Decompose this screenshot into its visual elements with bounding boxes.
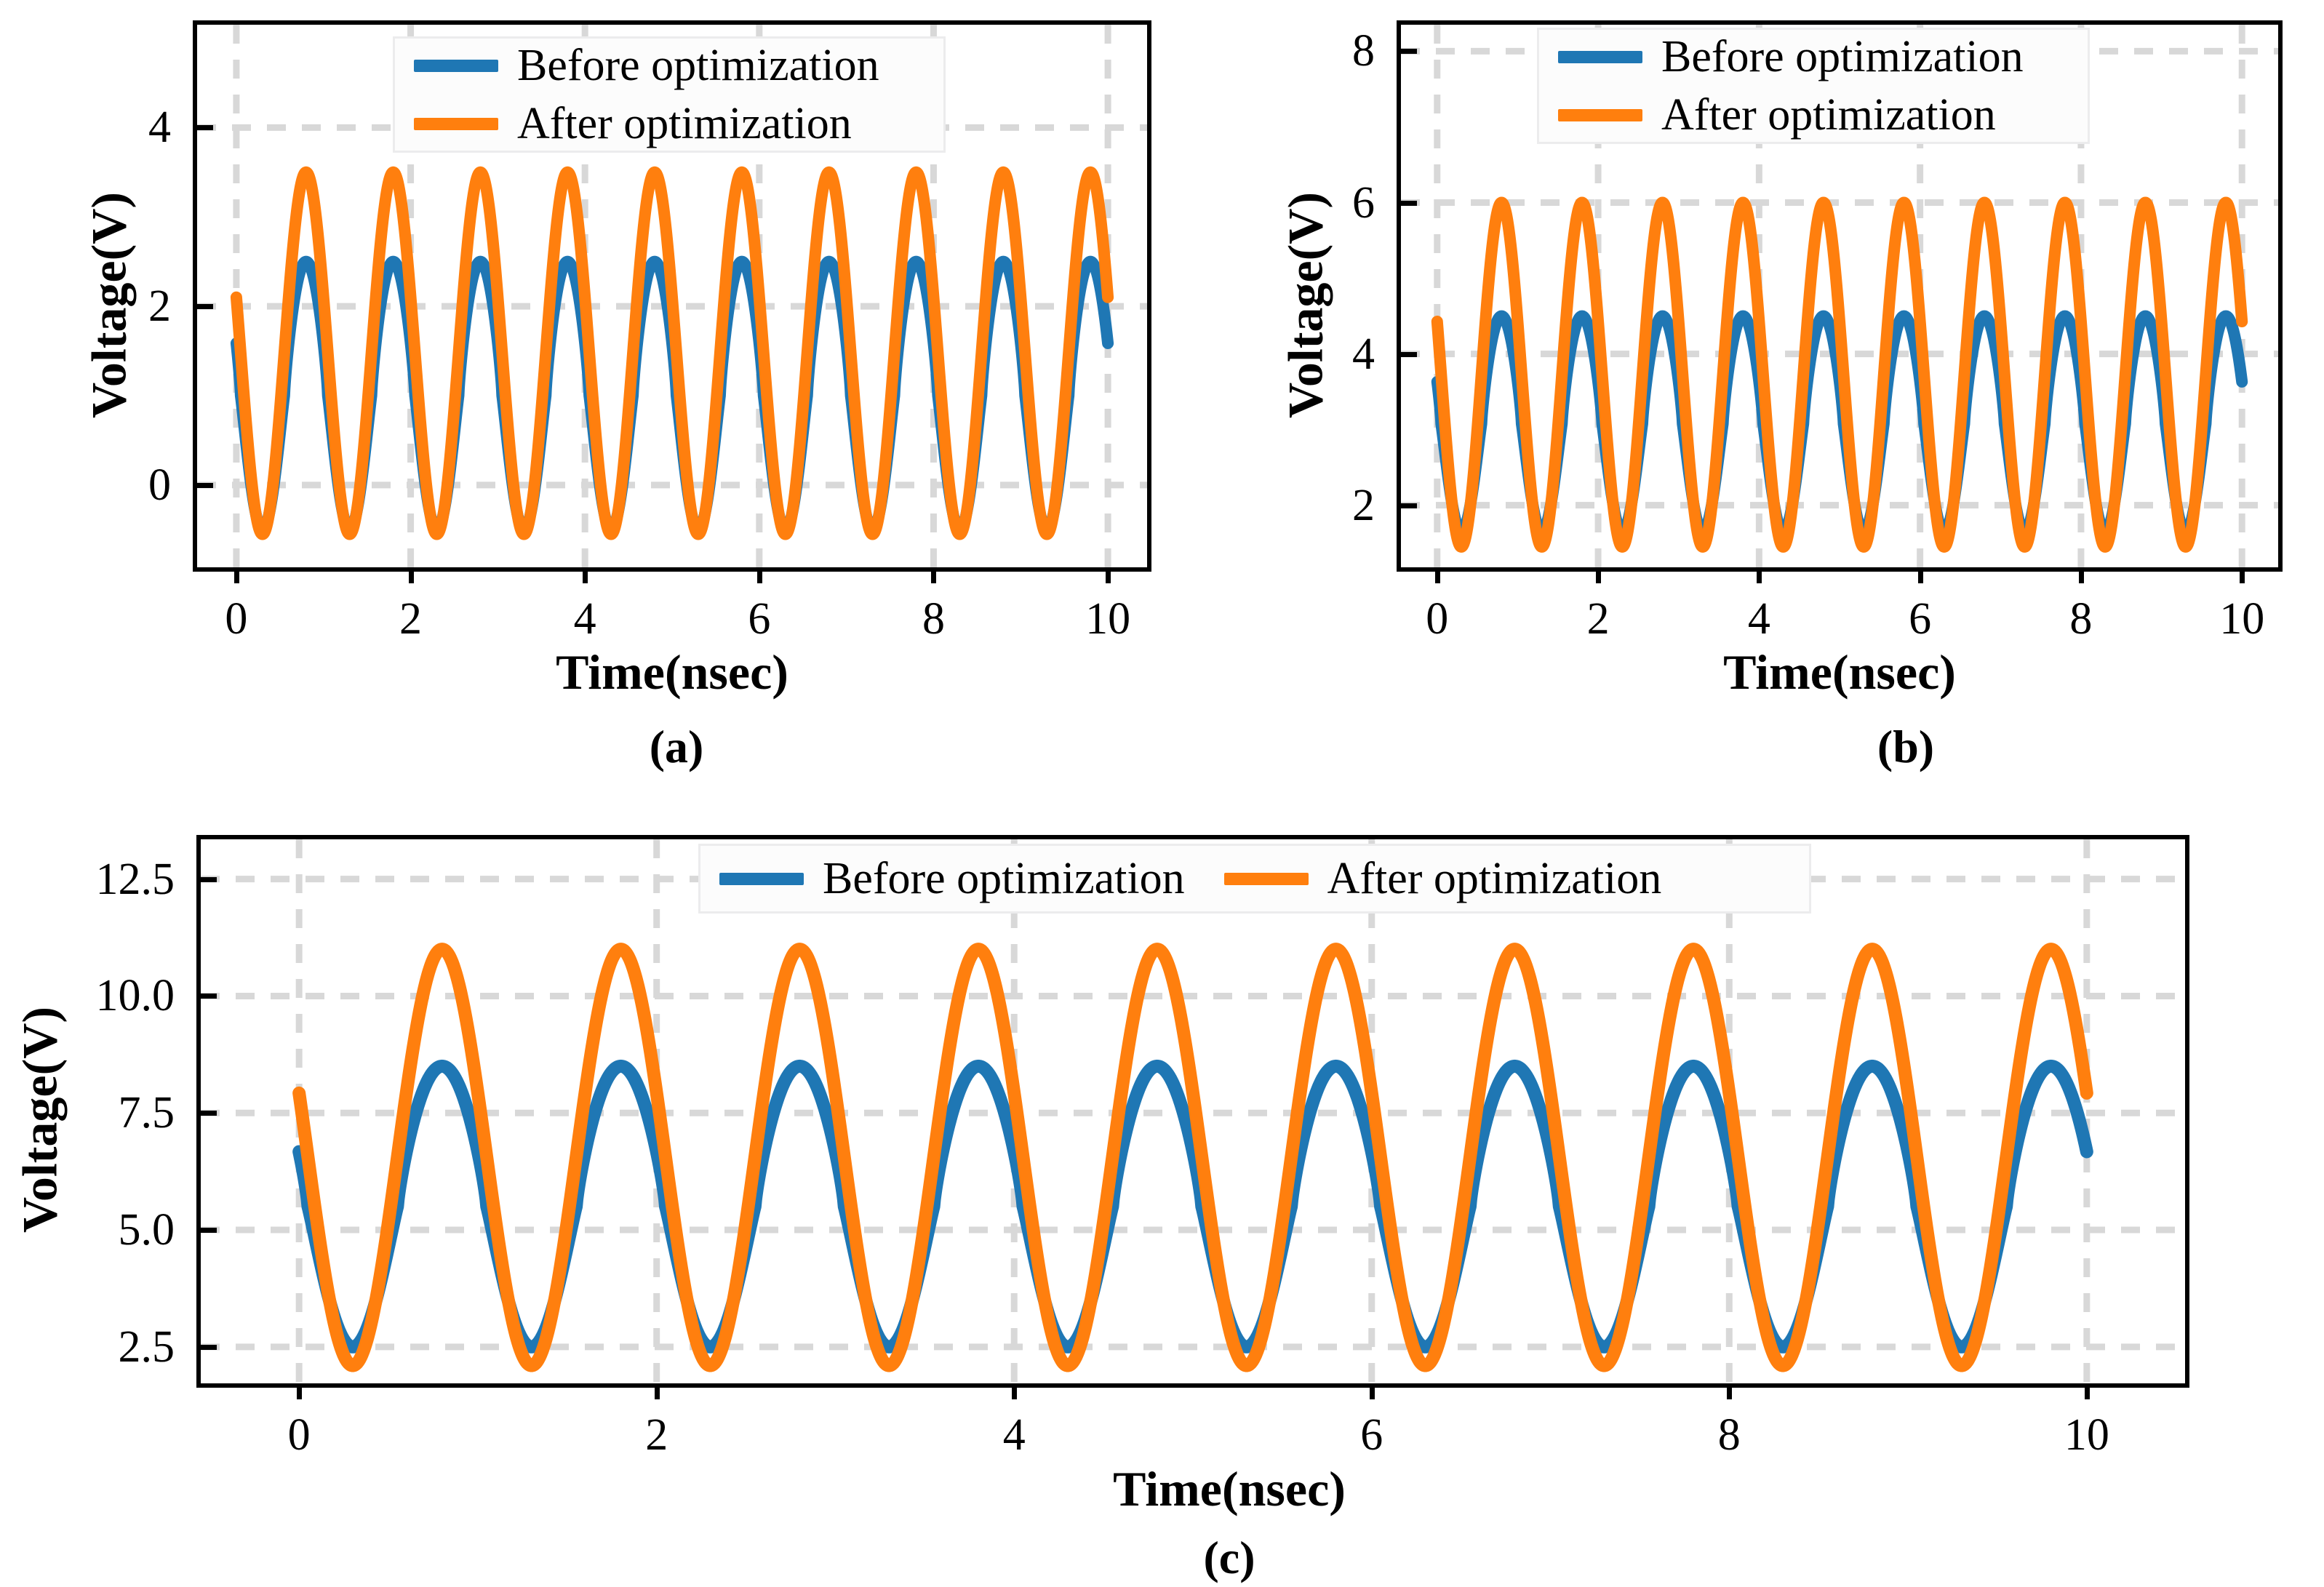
y-tick-label: 8: [1215, 28, 1375, 73]
legend-entry-after: After optimization: [1558, 92, 2069, 137]
legend-entry-before: Before optimization: [414, 43, 925, 88]
figure-canvas: 0240246810 Voltage(V) Time(nsec) (a) Bef…: [0, 0, 2324, 1587]
y-tick-mark: [197, 304, 213, 309]
legend-swatch-before: [1558, 51, 1642, 63]
y-tick-mark: [1401, 503, 1417, 508]
x-tick-label: 2: [1587, 596, 1610, 641]
x-tick-label: 0: [225, 596, 247, 641]
panel-c-y-axis-label: Voltage(V): [12, 967, 69, 1273]
y-tick-mark: [201, 994, 217, 999]
x-tick-mark: [2079, 567, 2084, 583]
legend-entry-after: After optimization: [414, 101, 925, 146]
legend-swatch-after: [1558, 109, 1642, 121]
x-tick-mark: [1106, 567, 1111, 583]
x-tick-mark: [1370, 1383, 1375, 1399]
x-tick-label: 8: [2069, 596, 2092, 641]
panel-a-caption: (a): [650, 720, 704, 774]
y-tick-label: 2: [1215, 483, 1375, 528]
panel-c-legend[interactable]: Before optimization After optimization: [698, 844, 1811, 914]
panel-c-axes: [196, 835, 2189, 1388]
panel-c-plot-area: [201, 839, 2185, 1383]
legend-label-after: After optimization: [517, 101, 852, 146]
x-tick-mark: [583, 567, 588, 583]
y-tick-label: 4: [11, 105, 171, 150]
x-tick-mark: [234, 567, 239, 583]
y-tick-mark: [201, 877, 217, 882]
x-tick-mark: [1596, 567, 1601, 583]
x-tick-mark: [1918, 567, 1923, 583]
panel-c-caption: (c): [1203, 1531, 1255, 1585]
x-tick-label: 8: [922, 596, 945, 641]
x-tick-label: 6: [1360, 1412, 1383, 1458]
x-tick-label: 0: [1426, 596, 1448, 641]
panel-b-legend[interactable]: Before optimization After optimization: [1537, 28, 2090, 144]
x-tick-mark: [1435, 567, 1440, 583]
legend-swatch-before: [414, 60, 498, 72]
x-tick-label: 6: [1909, 596, 1931, 641]
x-tick-mark: [1727, 1383, 1732, 1399]
legend-label-before: Before optimization: [517, 43, 879, 88]
panel-b: 24680246810 Voltage(V) Time(nsec) (b) Be…: [1164, 0, 2324, 793]
x-tick-mark: [757, 567, 762, 583]
legend-entry-after: After optimization: [1224, 856, 1662, 901]
y-tick-label: 2.5: [15, 1324, 175, 1370]
panel-b-x-axis-label: Time(nsec): [1723, 644, 1956, 701]
x-tick-label: 8: [1718, 1412, 1741, 1458]
x-tick-mark: [931, 567, 936, 583]
panel-c: 2.55.07.510.012.50246810 Voltage(V) Time…: [0, 793, 2324, 1587]
y-tick-mark: [197, 483, 213, 488]
panel-c-x-axis-label: Time(nsec): [1113, 1460, 1346, 1518]
x-tick-mark: [2085, 1383, 2090, 1399]
legend-label-after: After optimization: [1661, 92, 1996, 137]
legend-swatch-after: [1224, 873, 1309, 885]
x-tick-label: 2: [645, 1412, 668, 1458]
x-tick-label: 10: [2064, 1412, 2109, 1458]
legend-swatch-before: [719, 873, 804, 885]
y-tick-mark: [1401, 201, 1417, 206]
legend-swatch-after: [414, 118, 498, 130]
panel-b-caption: (b): [1877, 720, 1934, 774]
y-tick-mark: [201, 1111, 217, 1116]
series-lines: [236, 172, 1108, 535]
y-tick-label: 12.5: [15, 857, 175, 902]
panel-a-x-axis-label: Time(nsec): [556, 644, 788, 701]
x-tick-mark: [655, 1383, 660, 1399]
x-tick-label: 2: [399, 596, 422, 641]
x-tick-label: 4: [1003, 1412, 1026, 1458]
x-tick-label: 4: [1748, 596, 1770, 641]
panel-a-legend[interactable]: Before optimization After optimization: [393, 36, 946, 153]
x-tick-mark: [1012, 1383, 1017, 1399]
legend-entry-before: Before optimization: [719, 856, 1185, 901]
series-lines: [299, 949, 2087, 1365]
x-tick-mark: [1757, 567, 1762, 583]
x-tick-label: 10: [1085, 596, 1130, 641]
x-tick-label: 4: [574, 596, 596, 641]
y-tick-mark: [1401, 49, 1417, 54]
series-lines: [1437, 203, 2242, 547]
y-tick-label: 0: [11, 463, 171, 508]
y-tick-mark: [201, 1228, 217, 1233]
y-tick-mark: [201, 1345, 217, 1350]
y-tick-mark: [197, 125, 213, 130]
y-tick-mark: [1401, 352, 1417, 357]
panel-a-y-axis-label: Voltage(V): [81, 153, 138, 458]
panel-b-y-axis-label: Voltage(V): [1277, 153, 1335, 458]
x-tick-mark: [2240, 567, 2245, 583]
legend-label-after: After optimization: [1327, 856, 1662, 901]
panel-a: 0240246810 Voltage(V) Time(nsec) (a) Bef…: [0, 0, 1164, 793]
x-tick-label: 10: [2219, 596, 2264, 641]
x-tick-mark: [297, 1383, 302, 1399]
x-tick-label: 6: [748, 596, 770, 641]
legend-entry-before: Before optimization: [1558, 34, 2069, 79]
legend-label-before: Before optimization: [823, 856, 1185, 901]
x-tick-mark: [409, 567, 414, 583]
legend-label-before: Before optimization: [1661, 34, 2024, 79]
x-tick-label: 0: [288, 1412, 311, 1458]
